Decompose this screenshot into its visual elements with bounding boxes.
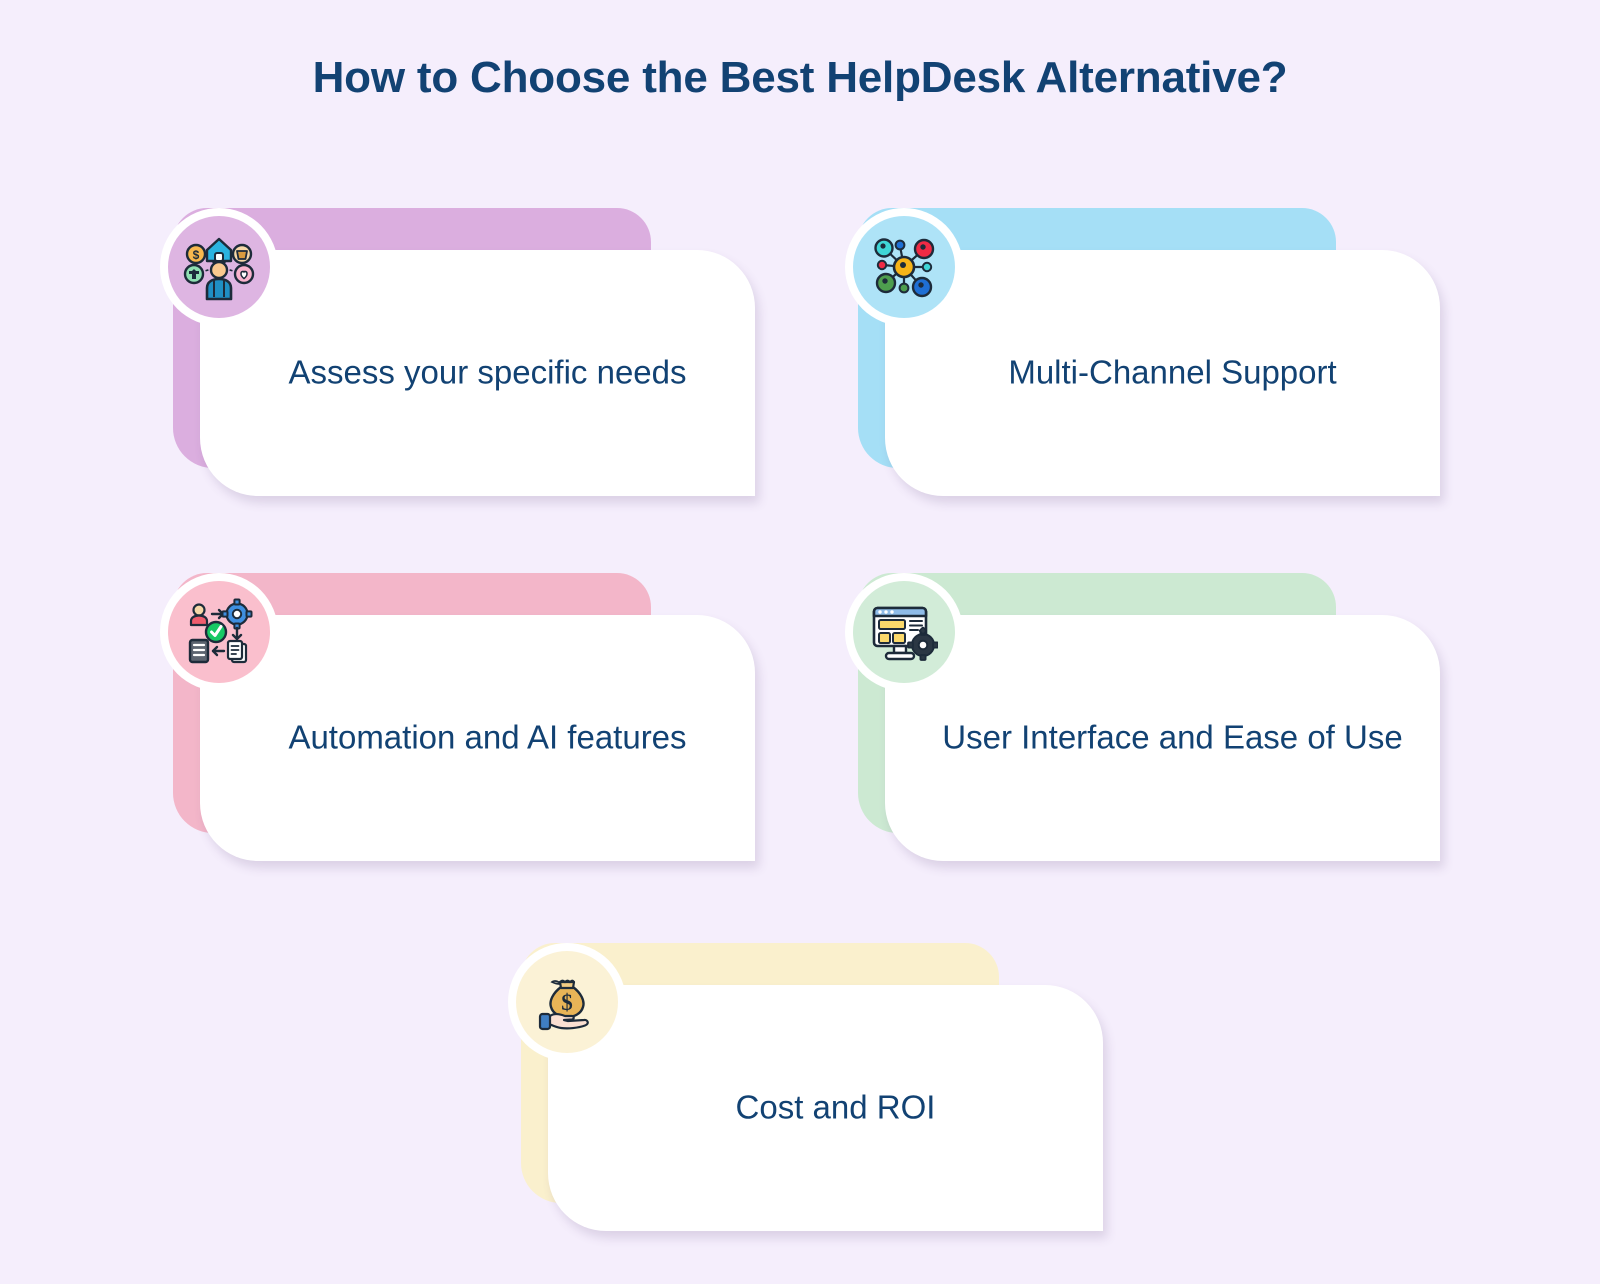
money-bag-hand-icon: $ (516, 951, 618, 1053)
automation-workflow-icon (168, 581, 270, 683)
card-face: Multi-Channel Support (885, 250, 1440, 496)
card-face: Assess your specific needs (200, 250, 755, 496)
card-label: Assess your specific needs (250, 350, 725, 397)
needs-network-person-icon: $ (168, 216, 270, 318)
card-cost-roi[interactable]: Cost and ROI $ (508, 943, 1108, 1243)
card-user-interface[interactable]: User Interface and Ease of Use (845, 573, 1445, 873)
icon-badge (160, 573, 278, 691)
card-face: Cost and ROI (548, 985, 1103, 1231)
card-label: Multi-Channel Support (935, 350, 1410, 397)
svg-text:$: $ (193, 248, 200, 262)
card-label: Cost and ROI (598, 1085, 1073, 1132)
monitor-settings-icon (853, 581, 955, 683)
card-automation-ai[interactable]: Automation and AI features (160, 573, 760, 873)
icon-badge: $ (508, 943, 626, 1061)
icon-badge (845, 573, 963, 691)
network-nodes-icon (853, 216, 955, 318)
page-title: How to Choose the Best HelpDesk Alternat… (0, 52, 1600, 105)
card-multi-channel-support[interactable]: Multi-Channel Support (845, 208, 1445, 508)
icon-badge: $ (160, 208, 278, 326)
card-face: User Interface and Ease of Use (885, 615, 1440, 861)
card-assess-needs[interactable]: Assess your specific needs $ (160, 208, 760, 508)
card-face: Automation and AI features (200, 615, 755, 861)
icon-badge (845, 208, 963, 326)
card-label: Automation and AI features (250, 715, 725, 762)
card-label: User Interface and Ease of Use (935, 715, 1410, 762)
svg-text:$: $ (561, 990, 573, 1015)
